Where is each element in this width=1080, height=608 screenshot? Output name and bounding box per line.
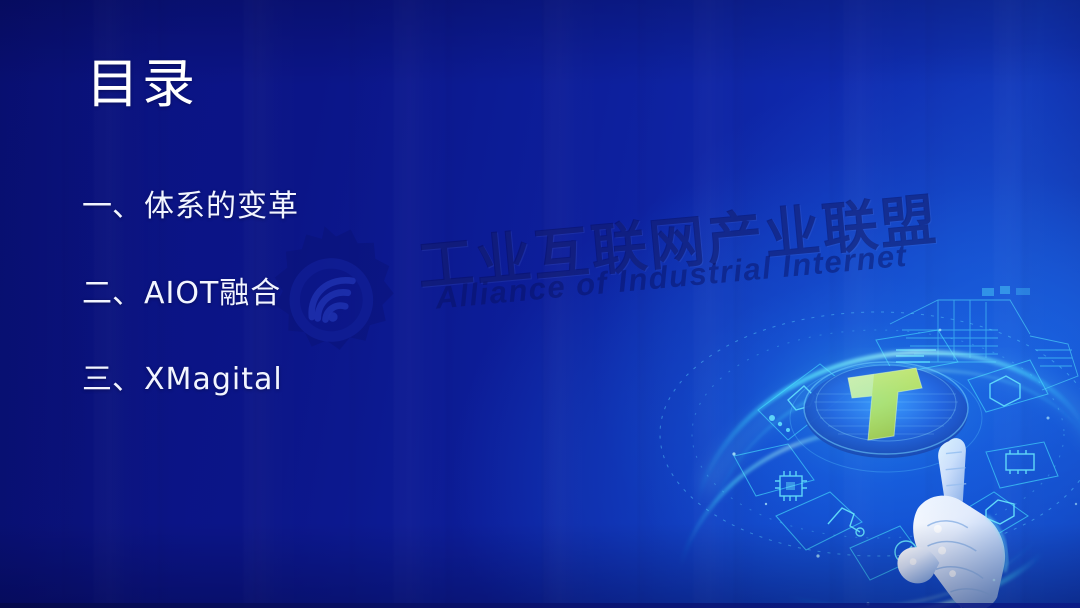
toc-item-3[interactable]: 三、XMagital [82, 363, 602, 398]
toc-item-1-number: 一、 [82, 189, 142, 224]
slide-bottom-bar [0, 603, 1080, 608]
toc-item-3-label: XMagital [144, 362, 283, 397]
page-title: 目录 [86, 56, 198, 113]
toc-item-2-number: 二、 [82, 276, 142, 311]
toc-item-1[interactable]: 一、体系的变革 [82, 190, 602, 225]
toc-item-3-number: 三、 [82, 362, 142, 397]
toc-item-2[interactable]: 二、AIOT融合 [82, 277, 602, 312]
toc-item-2-label: AIOT融合 [144, 276, 281, 311]
toc-item-1-label: 体系的变革 [144, 189, 299, 224]
table-of-contents: 一、体系的变革 二、AIOT融合 三、XMagital [82, 190, 602, 398]
presentation-slide: 工业互联网产业联盟 Alliance of Industrial Interne… [0, 0, 1080, 608]
